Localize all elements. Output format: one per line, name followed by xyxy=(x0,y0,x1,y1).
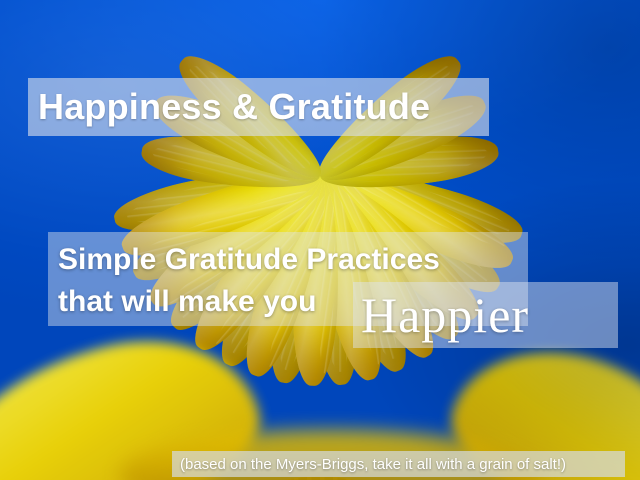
slide-caption: (based on the Myers-Briggs, take it all … xyxy=(180,456,566,473)
emphasis-word: Happier xyxy=(361,289,529,341)
subtitle-line-2: that will make you xyxy=(58,281,316,323)
caption-band: (based on the Myers-Briggs, take it all … xyxy=(172,451,625,477)
slide-title: Happiness & Gratitude xyxy=(38,86,430,128)
subtitle-line-1: Simple Gratitude Practices xyxy=(58,239,440,281)
presentation-slide: Happiness & Gratitude Simple Gratitude P… xyxy=(0,0,640,480)
emphasis-band: Happier xyxy=(353,282,618,348)
title-band: Happiness & Gratitude xyxy=(28,78,489,136)
